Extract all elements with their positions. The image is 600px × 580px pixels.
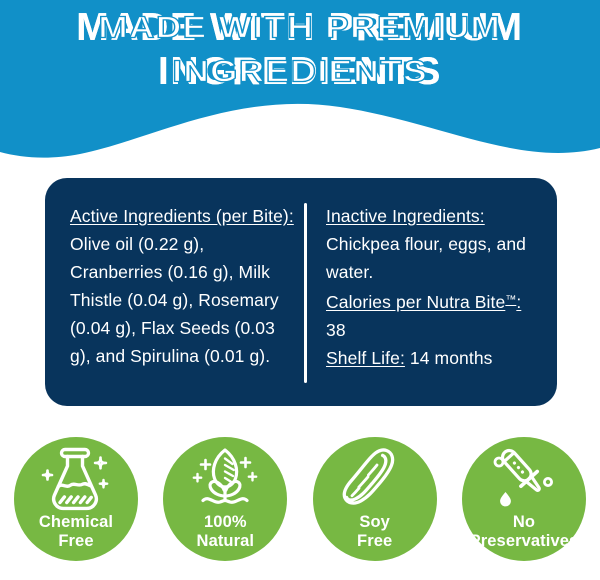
calories-label: Calories per Nutra Bite <box>326 292 505 312</box>
sprout-leaf-icon <box>163 437 287 511</box>
active-ingredients-column: Active Ingredients (per Bite): Olive oil… <box>45 178 304 370</box>
badge-chemical-free-label: Chemical Free <box>0 513 152 550</box>
badge-100-natural-label: 100% Natural <box>149 513 301 550</box>
column-divider <box>304 203 307 383</box>
badge-soy-free[interactable]: Soy Free <box>313 437 437 561</box>
calories-row: Calories per Nutra Bite™: 38 <box>326 286 543 344</box>
inactive-ingredients-heading: Inactive Ingredients: <box>326 206 485 226</box>
infographic-page: MADE WITH PREMIUM INGREDIENTS Active Ing… <box>0 0 600 580</box>
badge-100-natural[interactable]: 100% Natural <box>163 437 287 561</box>
active-ingredients-body: Olive oil (0.22 g), Cranberries (0.16 g)… <box>70 234 279 366</box>
badge-soy-free-label: Soy Free <box>299 513 451 550</box>
calories-colon: : <box>516 292 521 312</box>
active-ingredients-text: Active Ingredients (per Bite): Olive oil… <box>70 202 294 370</box>
badge-no-preservatives-label: No Preservatives <box>448 513 600 550</box>
inactive-ingredients-column: Inactive Ingredients: Chickpea flour, eg… <box>304 178 557 372</box>
shelf-life-colon: : <box>400 348 405 368</box>
active-ingredients-heading: Active Ingredients (per Bite): <box>70 206 294 226</box>
badge-chemical-free[interactable]: Chemical Free <box>14 437 138 561</box>
shelf-life-label: Shelf Life <box>326 348 400 368</box>
inactive-ingredients-text: Inactive Ingredients: Chickpea flour, eg… <box>326 202 543 372</box>
shelf-life-value: 14 months <box>410 348 493 368</box>
dropper-pipette-icon <box>462 437 586 511</box>
flask-sparkle-icon <box>14 437 138 511</box>
ingredient-card-columns: Active Ingredients (per Bite): Olive oil… <box>45 178 557 406</box>
shelf-life-row: Shelf Life: 14 months <box>326 344 543 372</box>
soybean-pod-icon <box>313 437 437 511</box>
badge-no-preservatives[interactable]: No Preservatives <box>462 437 586 561</box>
trademark-icon: ™ <box>505 294 516 306</box>
feature-badge-row: Chemical Free <box>0 437 600 580</box>
inactive-ingredients-block: Inactive Ingredients: Chickpea flour, eg… <box>326 202 543 286</box>
header-wave-shape <box>0 0 600 165</box>
header-banner: MADE WITH PREMIUM INGREDIENTS <box>0 0 600 165</box>
calories-value: 38 <box>326 320 346 340</box>
inactive-ingredients-body: Chickpea flour, eggs, and water. <box>326 234 526 282</box>
ingredient-card: Active Ingredients (per Bite): Olive oil… <box>45 178 557 406</box>
